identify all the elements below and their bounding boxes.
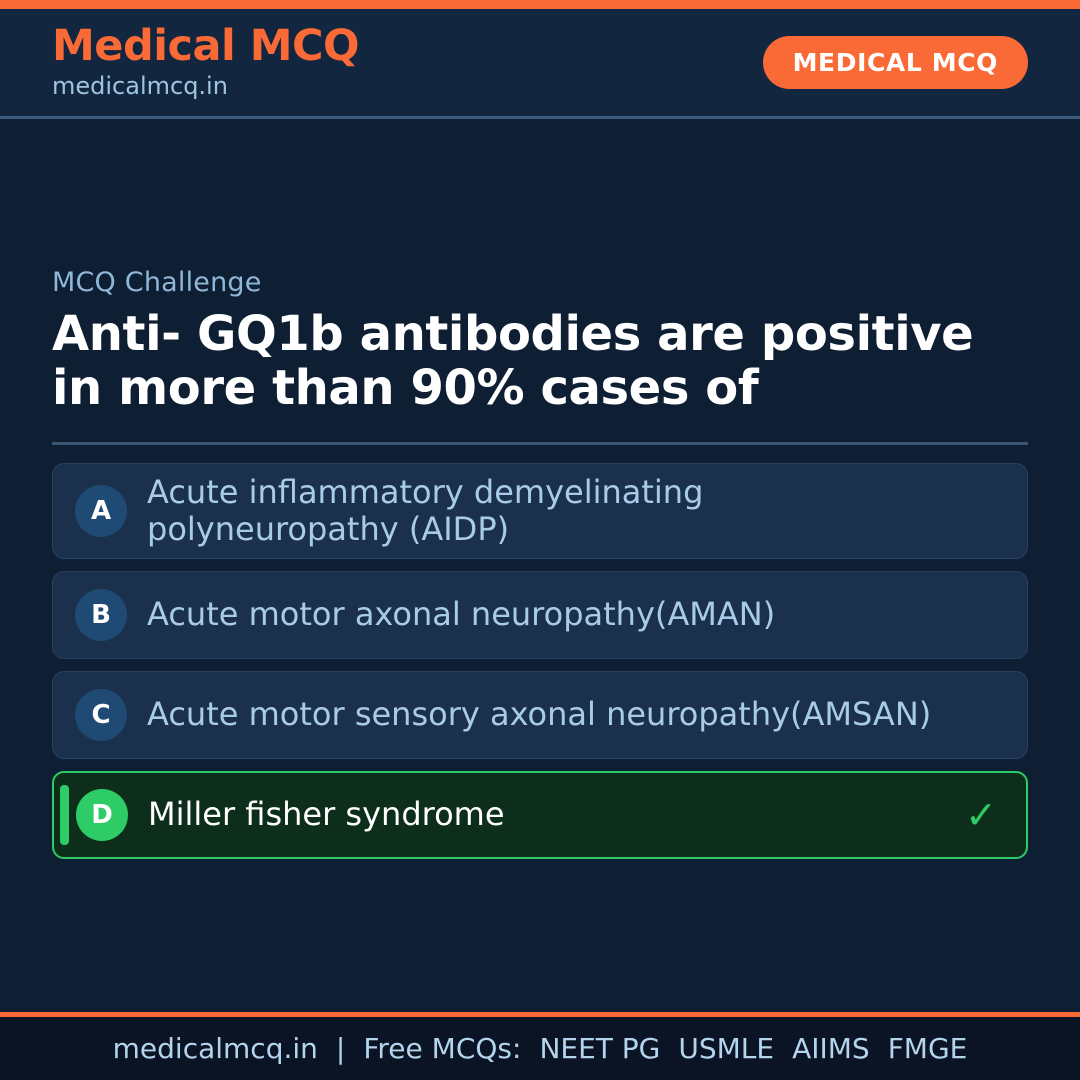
option-letter-c: C [75,689,127,741]
question-area: MCQ Challenge Anti- GQ1b antibodies are … [0,119,1080,1012]
option-text-d: Miller fisher syndrome [148,796,960,833]
options-list: A Acute inflammatory demyelinating polyn… [52,463,1028,859]
option-letter-d: D [76,789,128,841]
brand-subtitle: medicalmcq.in [52,72,359,101]
option-b[interactable]: B Acute motor axonal neuropathy(AMAN) ✓ [52,571,1028,659]
footer-separator: | [336,1032,345,1065]
footer-exam-fmge: FMGE [888,1032,968,1065]
header-badge: MEDICAL MCQ [763,36,1028,89]
brand-title: Medical MCQ [52,24,359,70]
section-divider [52,442,1028,445]
option-text-c: Acute motor sensory axonal neuropathy(AM… [147,696,961,733]
question-eyebrow: MCQ Challenge [52,267,1028,298]
option-text-b: Acute motor axonal neuropathy(AMAN) [147,596,961,633]
footer-exam-usmle: USMLE [678,1032,774,1065]
option-letter-b: B [75,589,127,641]
top-accent-bar [0,0,1080,9]
header: Medical MCQ medicalmcq.in MEDICAL MCQ [0,9,1080,119]
mcq-card: Medical MCQ medicalmcq.in MEDICAL MCQ MC… [0,0,1080,1080]
option-text-a: Acute inflammatory demyelinating polyneu… [147,474,961,548]
footer-exam-neet-pg: NEET PG [539,1032,660,1065]
option-a[interactable]: A Acute inflammatory demyelinating polyn… [52,463,1028,559]
brand-block: Medical MCQ medicalmcq.in [52,24,359,100]
footer-exam-list: NEET PG USMLE AIIMS FMGE [539,1032,967,1065]
footer: medicalmcq.in | Free MCQs: NEET PG USMLE… [0,1017,1080,1080]
footer-label: Free MCQs: [363,1032,521,1065]
footer-exam-aiims: AIIMS [792,1032,870,1065]
option-letter-a: A [75,485,127,537]
question-text: Anti- GQ1b antibodies are positive in mo… [52,308,1012,416]
option-d[interactable]: D Miller fisher syndrome ✓ [52,771,1028,859]
question-block: MCQ Challenge Anti- GQ1b antibodies are … [52,267,1028,416]
check-icon-d: ✓ [960,796,1002,834]
option-c[interactable]: C Acute motor sensory axonal neuropathy(… [52,671,1028,759]
footer-site: medicalmcq.in [113,1032,318,1065]
